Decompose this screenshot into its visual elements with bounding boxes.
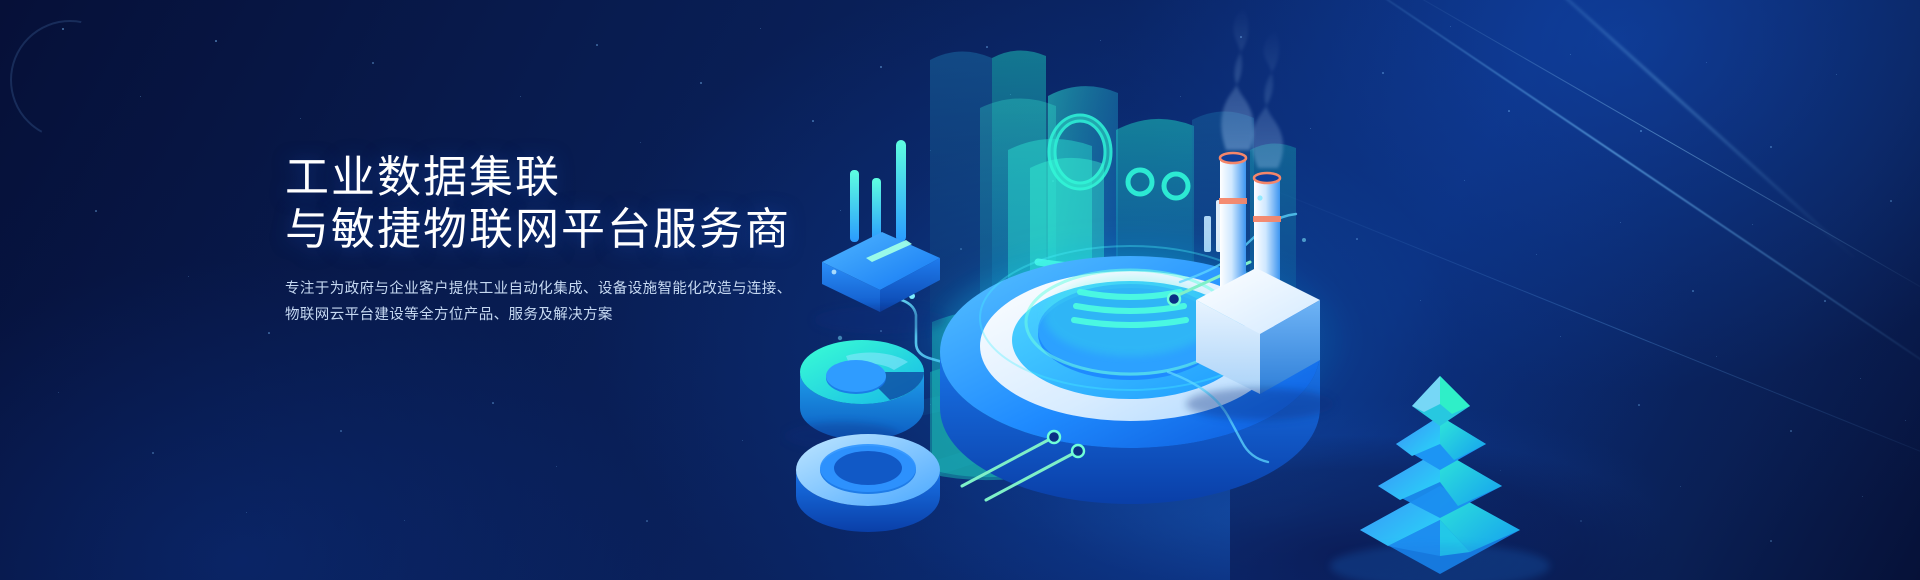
star bbox=[760, 28, 761, 29]
star bbox=[246, 512, 247, 513]
star bbox=[152, 452, 154, 454]
star bbox=[140, 96, 141, 97]
star bbox=[492, 402, 494, 404]
star bbox=[340, 430, 342, 432]
star bbox=[596, 44, 598, 46]
hero-banner: 工业数据集联 与敏捷物联网平台服务商 专注于为政府与企业客户提供工业自动化集成、… bbox=[0, 0, 1920, 580]
star bbox=[268, 332, 270, 334]
router-antenna bbox=[872, 178, 881, 242]
ring-platform bbox=[796, 434, 940, 532]
star bbox=[95, 210, 97, 212]
star bbox=[58, 392, 59, 393]
star bbox=[556, 466, 557, 467]
star bbox=[646, 520, 648, 522]
star bbox=[372, 62, 374, 64]
star bbox=[640, 142, 641, 143]
crescent-arc bbox=[10, 20, 130, 140]
star bbox=[215, 40, 217, 42]
star bbox=[520, 96, 521, 97]
illustration-scene bbox=[780, 0, 1920, 580]
star bbox=[742, 440, 743, 441]
step-pyramid bbox=[1330, 376, 1550, 580]
star bbox=[188, 276, 189, 277]
router-antenna bbox=[850, 170, 859, 242]
star bbox=[300, 118, 301, 119]
router-antenna bbox=[896, 140, 906, 242]
star bbox=[404, 520, 405, 521]
star bbox=[700, 82, 702, 84]
